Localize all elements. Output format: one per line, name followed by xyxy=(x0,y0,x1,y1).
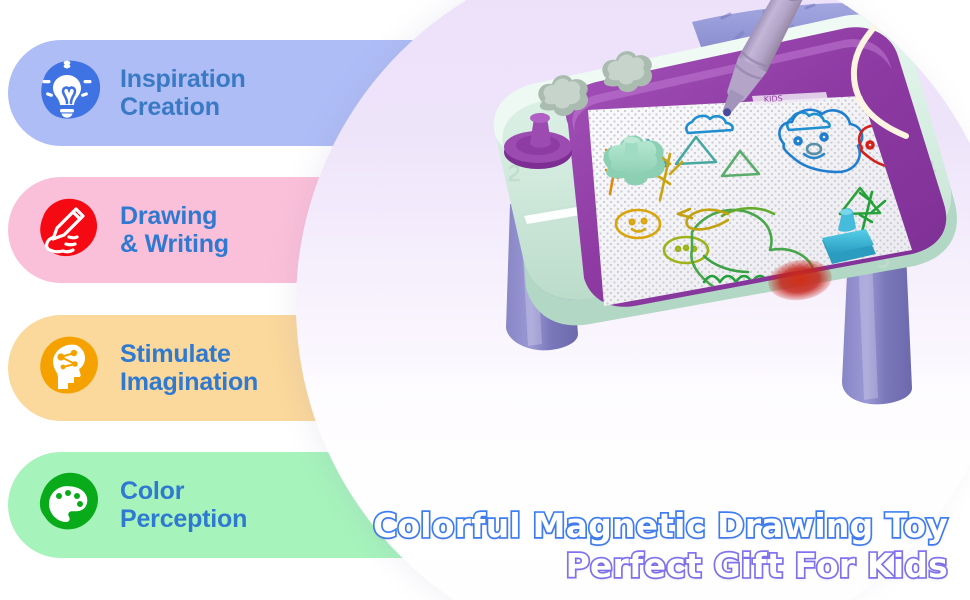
paint-palette-icon xyxy=(30,468,104,542)
promo-image-stage: Inspiration Creation Drawing & Writ xyxy=(0,0,970,600)
headline-line-2: Perfect Gift For Kids xyxy=(373,549,948,582)
lightbulb-icon xyxy=(30,56,104,130)
feature-badge-label: Drawing & Writing xyxy=(120,202,229,258)
feature-badge-label: Stimulate Imagination xyxy=(120,340,258,396)
magnetic-pen-assembly xyxy=(706,0,936,150)
magnetic-pen xyxy=(711,0,841,123)
headline-line-1: Colorful Magnetic Drawing Toy xyxy=(373,509,948,542)
brain-head-icon xyxy=(30,331,104,405)
hand-pencil-icon xyxy=(30,193,104,267)
feature-badge-label: Inspiration Creation xyxy=(120,65,246,121)
promo-headline: Colorful Magnetic Drawing Toy Perfect Gi… xyxy=(373,509,948,582)
feature-badge-label: Color Perception xyxy=(120,477,247,533)
pen-cord xyxy=(802,0,906,136)
